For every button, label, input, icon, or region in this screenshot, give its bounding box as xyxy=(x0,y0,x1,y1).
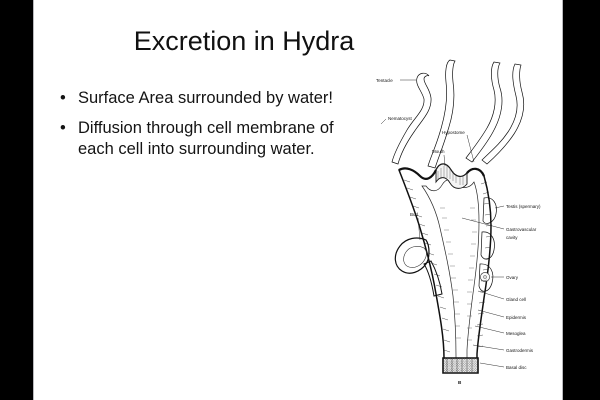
letterbox-bar-left xyxy=(0,0,33,400)
presentation-slide: Excretion in Hydra • Surface Area surrou… xyxy=(34,0,562,400)
label-tentacle-text: Tentacle xyxy=(376,78,393,83)
label-testis: Testis (spermary) xyxy=(495,204,541,209)
label-nematocyst: Nematocyst xyxy=(381,116,413,124)
bullet-list: • Surface Area surrounded by water! • Di… xyxy=(56,88,366,169)
label-epidermis-text: Epidermis xyxy=(506,315,527,320)
hydra-body xyxy=(395,164,496,373)
slide-viewer: Excretion in Hydra • Surface Area surrou… xyxy=(0,0,600,400)
label-mesoglea-text: Mesoglea xyxy=(506,331,526,336)
label-hypostome-text: Hypostome xyxy=(442,130,465,135)
label-nematocyst-text: Nematocyst xyxy=(388,116,413,121)
bullet-marker-icon: • xyxy=(60,118,66,139)
label-gland-cell-text: Gland cell xyxy=(506,297,526,302)
leader-line xyxy=(478,291,504,299)
letterbox-bar-right xyxy=(563,0,600,400)
bullet-marker-icon: • xyxy=(60,88,66,109)
label-tentacle: Tentacle xyxy=(376,78,416,83)
label-bud-text: Bud xyxy=(410,212,419,217)
label-mouth-text: Mouth xyxy=(432,149,445,154)
label-hypostome: Hypostome xyxy=(442,130,474,162)
label-ovary: Ovary xyxy=(491,275,519,280)
hydra-anatomy-diagram: Tentacle Nematocyst Hypostome Mouth xyxy=(374,58,564,388)
label-bud: Bud xyxy=(410,212,420,240)
list-item-text: Surface Area surrounded by water! xyxy=(78,89,333,107)
label-basal-disc-text: Basal disc xyxy=(506,365,527,370)
label-mesoglea: Mesoglea xyxy=(475,326,526,336)
page-title: Excretion in Hydra xyxy=(34,25,454,57)
leader-line xyxy=(480,363,504,367)
list-item: • Surface Area surrounded by water! xyxy=(56,88,366,109)
label-testis-text: Testis (spermary) xyxy=(506,204,541,209)
hydra-tentacles xyxy=(392,60,524,168)
figure-caption: B xyxy=(458,380,462,385)
label-gastrovascular-cavity-text-2: cavity xyxy=(506,235,518,240)
label-gastrovascular-cavity-text: Gastrovascular xyxy=(506,227,537,232)
label-gastrodermis-text: Gastrodermis xyxy=(506,348,534,353)
list-item: • Diffusion through cell membrane of eac… xyxy=(56,118,366,160)
label-epidermis: Epidermis xyxy=(478,310,527,320)
list-item-text: Diffusion through cell membrane of each … xyxy=(78,119,334,158)
label-ovary-text: Ovary xyxy=(506,275,519,280)
label-basal-disc: Basal disc xyxy=(480,363,527,370)
leader-line xyxy=(381,119,386,124)
